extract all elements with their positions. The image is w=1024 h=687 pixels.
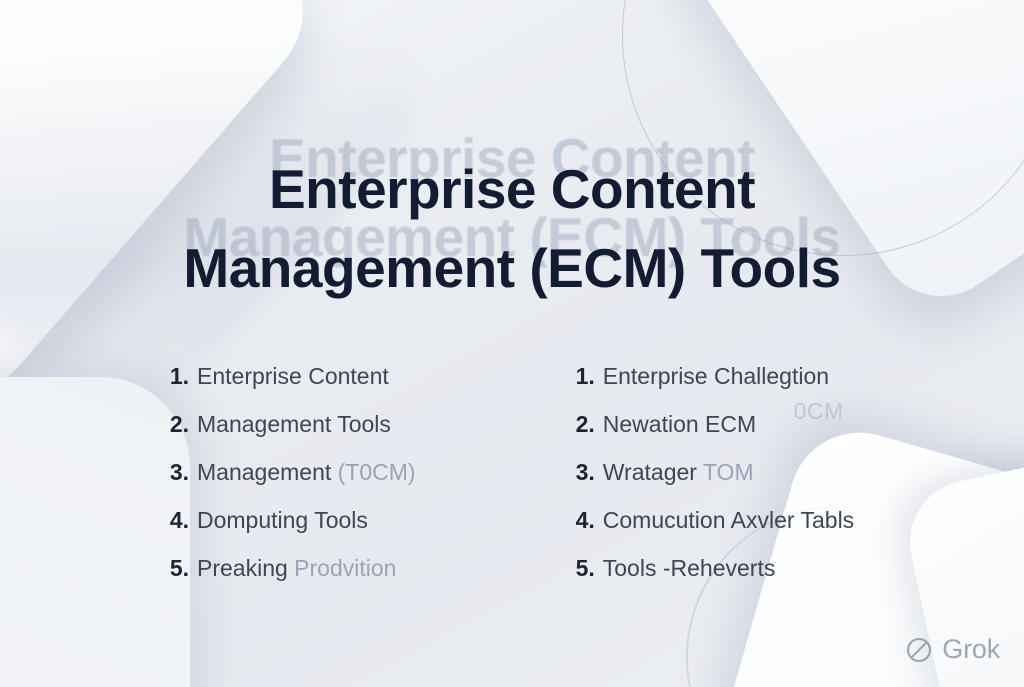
list-item-label: Enterprise Challegtion xyxy=(603,363,829,390)
list-item: 2. Newation ECM 0CM xyxy=(576,411,855,459)
right-list: 1. Enterprise Challegtion 2. Newation EC… xyxy=(576,363,855,603)
list-item-label: Preaking Prodvition xyxy=(197,555,396,582)
list-item: 3. Management (T0CM) xyxy=(170,459,416,507)
list-item: 4. Comucution Axvler Tabls xyxy=(576,507,855,555)
list-item-label: Comucution Axvler Tabls xyxy=(603,507,854,534)
ghost-text-fragment: 0CM xyxy=(794,398,844,425)
list-item: 2. Management Tools xyxy=(170,411,416,459)
list-item-label: Enterprise Content xyxy=(197,363,389,390)
list-item: 5. Tools -Reheverts xyxy=(576,555,855,603)
list-item: 1. Enterprise Content xyxy=(170,363,416,411)
list-item-number: 5. xyxy=(170,555,189,582)
list-item-label: Domputing Tools xyxy=(197,507,368,534)
list-item-number: 3. xyxy=(170,459,189,486)
title-block: Enterprise Content Management (ECM) Tool… xyxy=(0,150,1024,308)
list-item: 4. Domputing Tools xyxy=(170,507,416,555)
list-item-number: 1. xyxy=(576,363,595,390)
left-list: 1. Enterprise Content 2. Management Tool… xyxy=(170,363,416,603)
list-columns: 1. Enterprise Content 2. Management Tool… xyxy=(0,363,1024,603)
grok-watermark-label: Grok xyxy=(942,634,1000,665)
grok-logo-icon xyxy=(905,636,933,664)
list-item-label: Tools -Reheverts xyxy=(603,555,776,582)
list-item-number: 2. xyxy=(170,411,189,438)
list-item-label: Management Tools xyxy=(197,411,391,438)
list-item-label: Newation ECM xyxy=(603,411,756,438)
list-item-number: 3. xyxy=(576,459,595,486)
grok-watermark: Grok xyxy=(905,634,1000,665)
list-item: 5. Preaking Prodvition xyxy=(170,555,416,603)
slide-canvas: Enterprise Content Management (ECM) Tool… xyxy=(0,0,1024,687)
slide-title: Enterprise Content Management (ECM) Tool… xyxy=(0,150,1024,308)
list-item-number: 5. xyxy=(576,555,595,582)
list-item-number: 1. xyxy=(170,363,189,390)
list-item-label: Wratager TOM xyxy=(603,459,754,486)
list-item-number: 4. xyxy=(170,507,189,534)
list-item: 3. Wratager TOM xyxy=(576,459,855,507)
list-item-number: 2. xyxy=(576,411,595,438)
list-item-label: Management (T0CM) xyxy=(197,459,416,486)
list-item-number: 4. xyxy=(576,507,595,534)
